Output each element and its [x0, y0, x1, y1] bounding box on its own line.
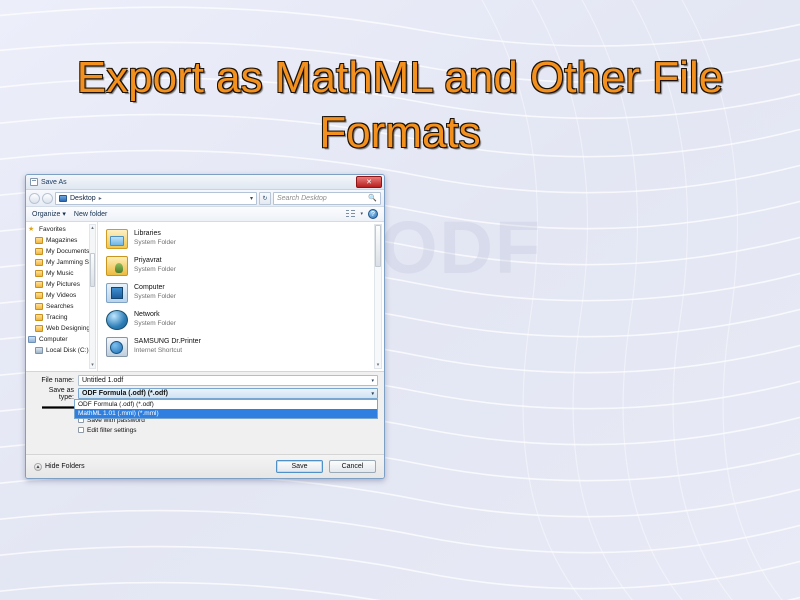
nav-item-label: Favorites [39, 226, 66, 233]
file-name-input[interactable]: Untitled 1.odf ▾ [78, 375, 378, 386]
nav-item-label: My Videos [46, 292, 76, 299]
dialog-fields: File name: Untitled 1.odf ▾ Save as type… [26, 372, 384, 435]
chevron-down-icon: ▾ [62, 210, 66, 218]
scrollbar-thumb[interactable] [375, 225, 381, 267]
new-folder-button[interactable]: New folder [74, 211, 107, 218]
nav-item-my-pictures[interactable]: My Pictures [28, 279, 97, 290]
breadcrumb-item-desktop[interactable]: Desktop [70, 195, 96, 202]
file-name-label: File name: [32, 377, 74, 384]
nav-item-label: My Jamming S [46, 259, 89, 266]
nav-item-label: Local Disk (C:) [46, 347, 89, 354]
list-item-name: Priyavrat [134, 257, 162, 264]
list-item-sub: System Folder [134, 293, 176, 300]
help-icon[interactable]: ? [368, 209, 378, 219]
list-item-sub: System Folder [134, 320, 176, 327]
search-input[interactable]: Search Desktop 🔍 [273, 192, 381, 205]
nav-item-label: Computer [39, 336, 68, 343]
save-as-type-select[interactable]: ODF Formula (.odf) (*.odf) ▾ [78, 388, 378, 399]
nav-item-web-designing[interactable]: Web Designing [28, 323, 97, 334]
dialog-navigation-bar: Desktop ▸ ▾ ↻ Search Desktop 🔍 [26, 190, 384, 207]
list-item-text: SAMSUNG Dr.Printer Internet Shortcut [134, 338, 201, 356]
back-arrow-icon[interactable] [29, 193, 40, 204]
organize-label: Organize [32, 211, 60, 218]
scrollbar-thumb[interactable] [90, 253, 95, 287]
dropdown-option-odf-formula[interactable]: ODF Formula (.odf) (*.odf) [75, 400, 377, 409]
nav-item-searches[interactable]: Searches [28, 301, 97, 312]
list-item-text: Computer System Folder [134, 284, 176, 302]
folder-icon [35, 270, 43, 277]
chevron-right-icon: ▸ [99, 195, 102, 202]
save-as-dialog: Save As ✕ Desktop ▸ ▾ ↻ Search Desktop 🔍… [25, 174, 385, 479]
list-item-sub: System Folder [134, 266, 176, 273]
list-item[interactable]: Priyavrat System Folder [106, 252, 384, 279]
nav-item-label: Tracing [46, 314, 67, 321]
nav-item-magazines[interactable]: Magazines [28, 235, 97, 246]
toolbar-right-group: ▾ ? [346, 209, 378, 219]
save-as-type-row: Save as type: ODF Formula (.odf) (*.odf)… [32, 388, 378, 399]
computer-icon [28, 336, 36, 343]
document-icon [30, 178, 38, 186]
folder-icon [35, 281, 43, 288]
hide-folders-button[interactable]: ▲ Hide Folders [34, 463, 85, 471]
save-as-type-label: Save as type: [32, 387, 74, 401]
list-item-text: Libraries System Folder [134, 230, 176, 248]
dialog-footer: ▲ Hide Folders Save Cancel [26, 454, 384, 478]
file-name-value: Untitled 1.odf [82, 377, 123, 384]
edit-filter-settings-checkbox[interactable] [78, 427, 84, 433]
list-item-text: Priyavrat System Folder [134, 257, 176, 275]
edit-filter-settings-label: Edit filter settings [87, 427, 137, 434]
organize-button[interactable]: Organize ▾ [32, 210, 66, 218]
nav-item-label: My Documents [46, 248, 89, 255]
desktop-icon [59, 195, 67, 202]
forward-arrow-icon[interactable] [42, 193, 53, 204]
list-item[interactable]: Network System Folder [106, 306, 384, 333]
search-placeholder: Search Desktop [277, 195, 327, 202]
star-icon: ★ [28, 226, 36, 233]
printer-shortcut-icon [106, 337, 128, 357]
chevron-down-icon[interactable]: ▾ [360, 211, 363, 217]
list-item-name: SAMSUNG Dr.Printer [134, 338, 201, 345]
folder-icon [35, 325, 43, 332]
file-name-row: File name: Untitled 1.odf ▾ [32, 375, 378, 386]
chevron-down-icon[interactable]: ▾ [371, 391, 374, 397]
list-item[interactable]: Libraries System Folder [106, 225, 384, 252]
dialog-title: Save As [41, 179, 67, 186]
nav-item-my-videos[interactable]: My Videos [28, 290, 97, 301]
save-button[interactable]: Save [276, 460, 323, 473]
folder-icon [35, 237, 43, 244]
file-list: Libraries System Folder Priyavrat System… [98, 222, 384, 371]
dialog-titlebar: Save As ✕ [26, 175, 384, 190]
folder-icon [35, 303, 43, 310]
disk-icon [35, 347, 43, 354]
nav-item-favorites[interactable]: ★Favorites [28, 224, 97, 235]
cancel-button[interactable]: Cancel [329, 460, 376, 473]
search-icon: 🔍 [368, 194, 377, 202]
scroll-up-icon[interactable]: ▴ [90, 225, 95, 231]
list-item-sub: System Folder [134, 239, 176, 246]
scroll-down-icon[interactable]: ▾ [375, 362, 381, 368]
dropdown-option-mathml[interactable]: MathML 1.01 (.mml) (*.mml) [75, 409, 377, 418]
nav-item-my-documents[interactable]: My Documents [28, 246, 97, 257]
save-as-type-value: ODF Formula (.odf) (*.odf) [82, 390, 168, 397]
nav-item-my-jamming-s[interactable]: My Jamming S [28, 257, 97, 268]
scroll-down-icon[interactable]: ▾ [90, 362, 95, 368]
file-list-scrollbar[interactable]: ▴ ▾ [374, 224, 382, 369]
dialog-toolbar: Organize ▾ New folder ▾ ? [26, 207, 384, 222]
nav-item-label: My Pictures [46, 281, 80, 288]
nav-item-my-music[interactable]: My Music [28, 268, 97, 279]
nav-item-label: Web Designing [46, 325, 90, 332]
list-item[interactable]: Computer System Folder [106, 279, 384, 306]
nav-item-label: Searches [46, 303, 73, 310]
folder-icon [35, 259, 43, 266]
breadcrumb[interactable]: Desktop ▸ ▾ [55, 192, 257, 205]
folder-icon [35, 292, 43, 299]
libraries-icon [106, 229, 128, 249]
nav-item-tracing[interactable]: Tracing [28, 312, 97, 323]
save-as-type-dropdown: ODF Formula (.odf) (*.odf) MathML 1.01 (… [74, 399, 378, 419]
page-title: Export as MathML and Other File Formats [30, 51, 770, 160]
list-item-name: Libraries [134, 230, 161, 237]
list-item-sub: Internet Shortcut [134, 347, 182, 354]
list-item[interactable]: SAMSUNG Dr.Printer Internet Shortcut [106, 333, 384, 360]
list-item-name: Network [134, 311, 160, 318]
dialog-body: ★Favorites Magazines My Documents My Jam… [26, 222, 384, 372]
footer-buttons: Save Cancel [276, 460, 376, 473]
folder-icon [35, 314, 43, 321]
view-mode-icon[interactable] [346, 210, 355, 218]
edit-filter-settings-row[interactable]: Edit filter settings [32, 425, 378, 435]
user-folder-icon [106, 256, 128, 276]
chevron-down-icon[interactable]: ▾ [250, 195, 253, 202]
list-item-text: Network System Folder [134, 311, 176, 329]
nav-item-local-disk-c[interactable]: Local Disk (C:) [28, 345, 97, 356]
navigation-pane: ★Favorites Magazines My Documents My Jam… [26, 222, 98, 371]
close-icon[interactable]: ✕ [356, 176, 382, 188]
nav-item-computer[interactable]: Computer [28, 334, 97, 345]
refresh-icon[interactable]: ↻ [259, 192, 271, 205]
collapse-icon: ▲ [34, 463, 42, 471]
folder-icon [35, 248, 43, 255]
list-item-name: Computer [134, 284, 165, 291]
network-icon [106, 310, 128, 330]
chevron-down-icon[interactable]: ▾ [371, 378, 374, 384]
hide-folders-label: Hide Folders [45, 463, 85, 470]
navigation-pane-scrollbar[interactable]: ▴ ▾ [89, 224, 96, 369]
computer-icon [106, 283, 128, 303]
nav-item-label: My Music [46, 270, 73, 277]
nav-item-label: Magazines [46, 237, 77, 244]
